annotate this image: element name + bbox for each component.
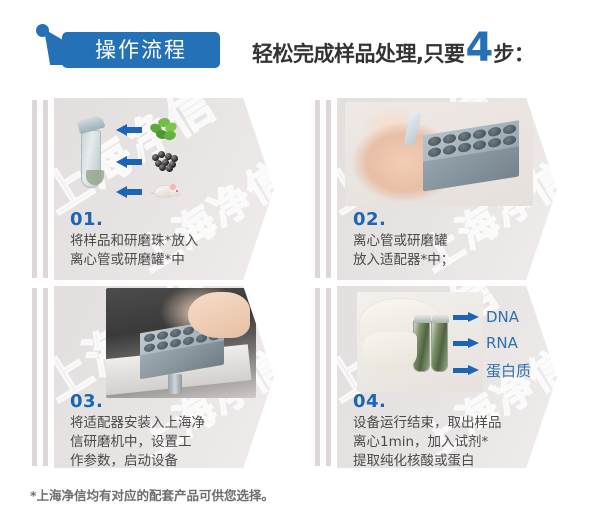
step-number: 04. (353, 392, 553, 412)
arrow-left-icon (116, 156, 142, 168)
section-badge-label: 操作流程 (95, 40, 187, 61)
card-stripe-outer (32, 288, 37, 466)
card-stripe-inner (326, 100, 331, 278)
step-line: 作参数，启动设备 (70, 452, 270, 468)
step-03-illustration (54, 286, 274, 398)
step-panel: 上海净信 上海净信 02. 离心管或研磨罐 放入适 (337, 98, 557, 280)
step-card-01: 上海净信 上海净信 (32, 98, 274, 280)
step-line: 提取纯化核酸或蛋白 (353, 452, 553, 468)
page-header: 操作流程 轻松完成样品处理,只要 4 步： (0, 0, 600, 92)
arrow-right-icon (453, 312, 479, 323)
step-number: 02. (353, 210, 553, 230)
sample-row-leaf (116, 118, 180, 142)
output-label: 蛋白质 (486, 360, 531, 381)
output-row-dna: DNA (453, 308, 519, 326)
step-04-illustration: DNA RNA 蛋白质 (337, 286, 557, 398)
leaf-icon (150, 118, 180, 142)
footnote: *上海净信均有对应的配套产品可供您选择。 (30, 485, 274, 504)
headline-suffix: 步： (493, 38, 534, 68)
step-line: 离心1min，加入试剂* (353, 433, 553, 452)
centrifuge-tube-icon (78, 112, 104, 190)
step-panel: 上海净信 上海净信 03. (54, 286, 274, 468)
mouse-icon (150, 180, 180, 204)
card-stripe-inner (326, 288, 331, 466)
step-card-03: 上海净信 上海净信 03. (32, 286, 274, 468)
arrow-right-icon (453, 365, 479, 376)
centrifuge-tube-icon (404, 111, 422, 147)
arrow-left-icon (116, 124, 142, 136)
arrow-left-icon (116, 186, 142, 198)
card-stripe-outer (315, 100, 320, 278)
step-card-04: 上海净信 上海净信 DNA RNA (315, 286, 557, 468)
step-01-illustration (54, 98, 274, 210)
output-row-rna: RNA (453, 334, 518, 352)
step-line: 将样品和研磨珠*放入 (70, 232, 270, 251)
output-label: DNA (486, 308, 519, 326)
headline-step-count: 4 (465, 30, 492, 66)
section-badge: 操作流程 (62, 32, 220, 68)
step-line: 将适配器安装入上海净 (70, 414, 270, 433)
step-line: 离心管或研磨罐*中 (70, 251, 270, 270)
output-row-protein: 蛋白质 (453, 360, 531, 381)
step-panel: 上海净信 上海净信 DNA RNA (337, 286, 557, 468)
card-stripe-inner (43, 288, 48, 466)
card-stripe-outer (32, 100, 37, 278)
step-line: 放入适配器*中； (353, 251, 553, 270)
output-label: RNA (486, 334, 518, 352)
step-02-illustration (337, 98, 557, 210)
hand-holding-adapter-photo (345, 102, 533, 206)
card-stripe-inner (43, 100, 48, 278)
step-number: 01. (70, 210, 270, 230)
step-line: 设备运行结束，取出样品 (353, 414, 553, 433)
step-line: 信研磨机中，设置工 (70, 433, 270, 452)
step-panel: 上海净信 上海净信 (54, 98, 274, 280)
step-01-text: 01. 将样品和研磨珠*放入 离心管或研磨罐*中 (70, 210, 270, 270)
step-line: 离心管或研磨罐 (353, 232, 553, 251)
grinding-beads-icon (150, 150, 180, 174)
adapter-installed-in-grinder-photo (106, 288, 256, 398)
steps-grid: 上海净信 上海净信 (0, 92, 600, 477)
sample-row-beads (116, 150, 180, 174)
step-04-text: 04. 设备运行结束，取出样品 离心1min，加入试剂* 提取纯化核酸或蛋白 (353, 392, 553, 468)
step-02-text: 02. 离心管或研磨罐 放入适配器*中； (353, 210, 553, 270)
sample-row-mouse (116, 180, 180, 204)
infographic-page: 操作流程 轻松完成样品处理,只要 4 步： 上海净信 上海净信 (0, 0, 600, 525)
headline-prefix: 轻松完成样品处理,只要 (252, 38, 464, 68)
step-number: 03. (70, 392, 270, 412)
step-03-text: 03. 将适配器安装入上海净 信研磨机中，设置工 作参数，启动设备 (70, 392, 270, 468)
step-card-02: 上海净信 上海净信 02. 离心管或研磨罐 放入适 (315, 98, 557, 280)
page-title: 轻松完成样品处理,只要 4 步： (252, 30, 534, 72)
card-stripe-outer (315, 288, 320, 466)
arrow-right-icon (453, 338, 479, 349)
